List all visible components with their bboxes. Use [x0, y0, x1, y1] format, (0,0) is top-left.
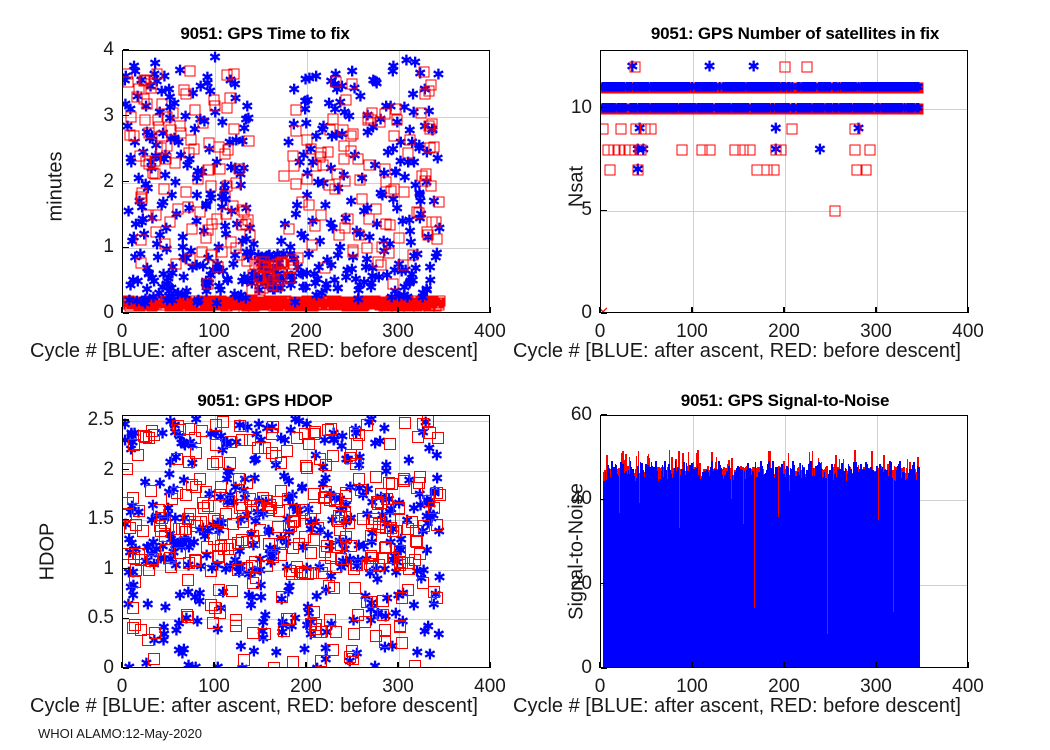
data-point-before-descent: [139, 75, 150, 86]
data-point-before-descent: [197, 497, 209, 509]
data-point-after-ascent: ✱: [255, 434, 268, 449]
data-point-after-ascent: ✱: [191, 171, 204, 186]
data-point-before-descent: [729, 82, 740, 93]
data-point-before-descent: [331, 77, 342, 88]
data-point-after-ascent: ✱: [346, 263, 359, 278]
x-tick-label: 400: [952, 676, 984, 698]
data-point-before-descent: [889, 82, 900, 93]
data-point-before-descent: [282, 493, 294, 505]
data-point-before-descent: [772, 82, 783, 93]
data-point-before-descent: [666, 82, 677, 93]
data-point-before-descent: [156, 512, 168, 524]
data-point-after-ascent: ✱: [386, 523, 399, 538]
data-point-before-descent: [622, 82, 633, 93]
data-point-after-ascent: ✱: [249, 267, 262, 282]
data-point-before-descent: [133, 548, 145, 560]
data-point-after-ascent: ✱: [418, 625, 431, 640]
data-point-after-ascent: ✱: [236, 661, 249, 668]
data-point-after-ascent: ✱: [317, 460, 330, 475]
data-point-after-ascent: ✱: [360, 260, 373, 275]
data-point-before-descent: [234, 300, 245, 311]
data-point-before-descent: [290, 178, 301, 189]
data-point-after-ascent: ✱: [361, 202, 374, 217]
data-point-after-ascent: ✱: [860, 81, 871, 94]
data-point-after-ascent: ✱: [291, 199, 304, 214]
data-point-after-ascent: ✱: [270, 261, 283, 276]
data-point-before-descent: [278, 625, 290, 637]
data-point-before-descent: [187, 296, 198, 307]
data-point-before-descent: [240, 218, 251, 229]
data-point-before-descent: [123, 298, 134, 309]
data-point-after-ascent: ✱: [216, 191, 229, 206]
data-point-after-ascent: ✱: [156, 539, 169, 554]
data-point-before-descent: [361, 298, 372, 309]
data-point-before-descent: [193, 299, 204, 310]
data-point-after-ascent: ✱: [391, 201, 404, 216]
data-point-after-ascent: ✱: [346, 65, 359, 80]
data-point-after-ascent: ✱: [124, 546, 137, 561]
data-point-before-descent: [782, 82, 793, 93]
data-point-after-ascent: ✱: [125, 429, 138, 444]
data-point-before-descent: [883, 82, 894, 93]
data-point-after-ascent: ✱: [275, 532, 288, 547]
data-point-after-ascent: ✱: [155, 198, 168, 213]
data-point-before-descent: [135, 191, 146, 202]
data-point-after-ascent: ✱: [352, 554, 365, 569]
data-point-before-descent: [403, 147, 414, 158]
data-point-after-ascent: ✱: [671, 81, 682, 94]
data-point-after-ascent: ✱: [216, 201, 229, 216]
data-point-before-descent: [385, 522, 397, 534]
data-point-before-descent: [673, 82, 684, 93]
data-point-after-ascent: ✱: [632, 142, 645, 157]
data-point-before-descent: [630, 62, 641, 73]
data-point-after-ascent: ✱: [754, 81, 765, 94]
data-point-before-descent: [198, 502, 210, 514]
data-point-before-descent: [608, 82, 619, 93]
data-point-before-descent: [226, 585, 238, 597]
data-point-after-ascent: ✱: [845, 81, 856, 94]
data-point-after-ascent: ✱: [799, 81, 810, 94]
data-point-before-descent: [910, 82, 921, 93]
data-point-after-ascent: ✱: [345, 511, 358, 526]
data-point-after-ascent: ✱: [387, 192, 400, 207]
data-point-before-descent: [169, 300, 180, 311]
x-tick-label: 400: [952, 321, 984, 343]
y-tick-label: 1: [60, 236, 114, 258]
data-point-before-descent: [762, 82, 773, 93]
data-point-before-descent: [365, 550, 377, 562]
data-point-after-ascent: ✱: [242, 251, 255, 266]
data-point-before-descent: [728, 82, 739, 93]
data-point-before-descent: [198, 118, 209, 129]
data-point-before-descent: [412, 207, 423, 218]
data-point-after-ascent: ✱: [417, 525, 430, 540]
data-point-before-descent: [911, 82, 922, 93]
data-point-after-ascent: ✱: [246, 277, 259, 292]
data-point-after-ascent: ✱: [158, 620, 171, 635]
data-point-after-ascent: ✱: [219, 219, 232, 234]
x-tick-mark: [691, 662, 692, 668]
data-point-after-ascent: ✱: [139, 297, 152, 312]
data-point-before-descent: [373, 521, 385, 533]
data-point-before-descent: [228, 68, 239, 79]
data-point-before-descent: [835, 82, 846, 93]
data-point-before-descent: [220, 149, 231, 160]
data-point-before-descent: [427, 119, 438, 130]
data-point-after-ascent: ✱: [268, 283, 281, 298]
data-point-after-ascent: ✱: [148, 275, 161, 290]
data-point-before-descent: [413, 477, 425, 489]
data-point-before-descent: [404, 305, 415, 313]
data-point-before-descent: [632, 165, 643, 176]
data-point-before-descent: [268, 274, 279, 285]
data-point-before-descent: [287, 656, 299, 668]
data-point-after-ascent: ✱: [353, 459, 366, 474]
data-point-before-descent: [657, 82, 668, 93]
data-point-before-descent: [151, 300, 162, 311]
data-point-before-descent: [141, 155, 152, 166]
data-point-before-descent: [247, 577, 259, 589]
data-point-before-descent: [243, 214, 254, 225]
data-point-before-descent: [351, 438, 363, 450]
data-point-after-ascent: ✱: [787, 81, 798, 94]
data-point-after-ascent: ✱: [414, 211, 427, 226]
plot-area-hdop: ✱✱✱✱✱✱✱✱✱✱✱✱✱✱✱✱✱✱✱✱✱✱✱✱✱✱✱✱✱✱✱✱✱✱✱✱✱✱✱✱…: [122, 415, 490, 668]
data-point-before-descent: [851, 165, 862, 176]
data-point-before-descent: [357, 513, 369, 525]
data-point-after-ascent: ✱: [330, 129, 343, 144]
data-point-after-ascent: ✱: [379, 610, 392, 625]
data-point-after-ascent: ✱: [333, 535, 346, 550]
data-point-after-ascent: ✱: [149, 57, 162, 72]
data-point-after-ascent: ✱: [126, 500, 139, 515]
data-point-before-descent: [281, 296, 292, 307]
data-point-after-ascent: ✱: [314, 234, 327, 249]
data-point-after-ascent: ✱: [426, 122, 439, 137]
data-point-after-ascent: ✱: [889, 81, 900, 94]
data-point-after-ascent: ✱: [797, 81, 808, 94]
data-point-after-ascent: ✱: [283, 475, 296, 490]
data-point-after-ascent: ✱: [340, 516, 353, 531]
data-point-after-ascent: ✱: [344, 553, 357, 568]
data-point-before-descent: [329, 495, 341, 507]
data-point-before-descent: [122, 295, 131, 306]
data-point-before-descent: [309, 502, 321, 514]
data-point-before-descent: [314, 453, 326, 465]
data-point-before-descent: [873, 82, 884, 93]
data-point-after-ascent: ✱: [146, 211, 159, 226]
data-point-after-ascent: ✱: [327, 434, 340, 449]
data-point-after-ascent: ✱: [639, 81, 650, 94]
data-point-after-ascent: ✱: [403, 454, 416, 469]
data-point-after-ascent: ✱: [694, 81, 705, 94]
data-point-before-descent: [330, 541, 342, 553]
data-point-after-ascent: ✱: [417, 287, 430, 302]
data-point-before-descent: [272, 281, 283, 292]
data-point-before-descent: [290, 298, 301, 309]
data-point-after-ascent: ✱: [317, 478, 330, 493]
data-point-before-descent: [233, 473, 245, 485]
data-point-before-descent: [403, 296, 414, 307]
data-point-before-descent: [853, 82, 864, 93]
data-point-before-descent: [122, 296, 133, 307]
data-point-after-ascent: ✱: [259, 608, 272, 623]
data-point-after-ascent: ✱: [325, 259, 338, 274]
data-point-before-descent: [887, 82, 898, 93]
data-point-before-descent: [351, 299, 362, 310]
data-point-before-descent: [653, 82, 664, 93]
data-point-before-descent: [841, 82, 852, 93]
data-point-after-ascent: ✱: [359, 590, 372, 605]
data-point-before-descent: [846, 82, 857, 93]
data-point-before-descent: [355, 484, 367, 496]
data-point-before-descent: [287, 542, 299, 554]
x-tick-label: 100: [198, 676, 230, 698]
data-point-before-descent: [771, 82, 782, 93]
data-point-after-ascent: ✱: [224, 560, 237, 575]
data-point-after-ascent: ✱: [677, 81, 688, 94]
data-point-before-descent: [187, 298, 198, 309]
data-point-after-ascent: ✱: [624, 81, 635, 94]
y-tick-label: 40: [538, 488, 592, 510]
data-point-after-ascent: ✱: [617, 81, 628, 94]
data-point-after-ascent: ✱: [824, 81, 835, 94]
gridline-horizontal: [601, 109, 967, 110]
data-point-before-descent: [197, 298, 208, 309]
data-point-after-ascent: ✱: [299, 280, 312, 295]
data-point-after-ascent: ✱: [906, 81, 917, 94]
data-point-after-ascent: ✱: [695, 81, 706, 94]
data-point-before-descent: [842, 82, 853, 93]
data-point-before-descent: [149, 300, 160, 311]
data-point-after-ascent: ✱: [141, 598, 154, 613]
data-point-before-descent: [171, 487, 183, 499]
data-point-before-descent: [662, 82, 673, 93]
data-point-before-descent: [856, 82, 867, 93]
data-point-before-descent: [349, 427, 361, 439]
data-point-before-descent: [384, 297, 395, 308]
data-point-before-descent: [190, 555, 202, 567]
data-point-after-ascent: ✱: [642, 81, 653, 94]
data-point-before-descent: [898, 82, 909, 93]
data-point-before-descent: [336, 298, 347, 309]
data-point-before-descent: [291, 299, 302, 310]
data-point-before-descent: [230, 300, 241, 311]
data-point-after-ascent: ✱: [131, 295, 144, 310]
data-point-before-descent: [224, 92, 235, 103]
data-point-after-ascent: ✱: [427, 508, 440, 523]
data-point-before-descent: [678, 82, 689, 93]
data-point-before-descent: [148, 429, 160, 441]
data-point-after-ascent: ✱: [320, 278, 333, 293]
data-point-after-ascent: ✱: [750, 81, 761, 94]
data-point-before-descent: [142, 634, 154, 646]
data-point-after-ascent: ✱: [903, 81, 914, 94]
data-point-after-ascent: ✱: [652, 81, 663, 94]
data-point-before-descent: [299, 531, 311, 543]
data-point-after-ascent: ✱: [236, 274, 249, 289]
data-point-after-ascent: ✱: [234, 178, 247, 193]
data-point-after-ascent: ✱: [782, 81, 793, 94]
data-point-after-ascent: ✱: [386, 640, 399, 655]
data-point-before-descent: [171, 453, 183, 465]
data-point-before-descent: [411, 296, 422, 307]
data-point-after-ascent: ✱: [610, 81, 621, 94]
data-point-after-ascent: ✱: [892, 81, 903, 94]
data-point-after-ascent: ✱: [409, 262, 422, 277]
data-point-before-descent: [190, 447, 202, 459]
data-point-before-descent: [129, 576, 141, 588]
data-point-after-ascent: ✱: [314, 524, 327, 539]
data-point-before-descent: [263, 267, 274, 278]
data-point-before-descent: [434, 297, 445, 308]
data-point-before-descent: [381, 299, 392, 310]
data-point-before-descent: [766, 82, 777, 93]
data-point-after-ascent: ✱: [422, 231, 435, 246]
data-point-before-descent: [256, 299, 267, 310]
data-point-before-descent: [365, 298, 376, 309]
data-point-after-ascent: ✱: [182, 658, 195, 668]
data-point-after-ascent: ✱: [128, 60, 141, 75]
data-point-before-descent: [129, 131, 140, 142]
data-point-before-descent: [826, 82, 837, 93]
data-point-after-ascent: ✱: [367, 73, 380, 88]
data-point-before-descent: [893, 82, 904, 93]
data-point-before-descent: [158, 298, 169, 309]
data-point-before-descent: [314, 296, 325, 307]
data-point-before-descent: [777, 82, 788, 93]
x-tick-mark: [875, 662, 876, 668]
data-point-before-descent: [344, 452, 356, 464]
data-point-before-descent: [357, 299, 368, 310]
data-point-before-descent: [208, 296, 219, 307]
data-point-before-descent: [619, 82, 630, 93]
data-point-before-descent: [649, 82, 660, 93]
data-point-before-descent: [207, 299, 218, 310]
data-point-before-descent: [140, 298, 151, 309]
data-point-before-descent: [695, 82, 706, 93]
data-point-after-ascent: ✱: [195, 559, 208, 574]
data-point-after-ascent: ✱: [240, 112, 253, 127]
data-point-after-ascent: ✱: [390, 566, 403, 581]
data-point-before-descent: [407, 249, 418, 260]
data-point-after-ascent: ✱: [753, 81, 764, 94]
data-point-before-descent: [231, 298, 242, 309]
x-tick-label: 400: [474, 321, 506, 343]
data-point-after-ascent: ✱: [429, 587, 442, 602]
data-point-after-ascent: ✱: [241, 99, 254, 114]
data-point-after-ascent: ✱: [413, 187, 426, 202]
data-point-before-descent: [383, 477, 395, 489]
data-point-after-ascent: ✱: [417, 564, 430, 579]
data-point-before-descent: [424, 305, 435, 313]
data-point-after-ascent: ✱: [292, 503, 305, 518]
data-point-after-ascent: ✱: [843, 81, 854, 94]
data-point-before-descent: [352, 300, 363, 311]
data-point-after-ascent: ✱: [350, 224, 363, 239]
data-point-after-ascent: ✱: [335, 439, 348, 454]
data-point-after-ascent: ✱: [395, 136, 408, 151]
data-point-after-ascent: ✱: [203, 487, 216, 502]
data-point-before-descent: [310, 626, 322, 638]
data-point-before-descent: [621, 82, 632, 93]
data-point-before-descent: [122, 299, 132, 310]
data-point-before-descent: [785, 82, 796, 93]
data-point-before-descent: [256, 257, 267, 268]
data-point-before-descent: [327, 296, 338, 307]
gridline-vertical: [399, 51, 400, 312]
data-point-before-descent: [340, 176, 351, 187]
data-point-after-ascent: ✱: [259, 262, 272, 277]
data-point-before-descent: [912, 82, 923, 93]
data-point-before-descent: [417, 299, 428, 310]
data-point-after-ascent: ✱: [770, 142, 783, 157]
data-point-after-ascent: ✱: [287, 118, 300, 133]
data-point-after-ascent: ✱: [635, 81, 646, 94]
data-point-after-ascent: ✱: [207, 264, 220, 279]
data-point-before-descent: [904, 82, 915, 93]
panel-snr: 9051: GPS Signal-to-Noise Signal-to-Nois…: [525, 375, 1050, 750]
data-point-before-descent: [176, 296, 187, 307]
data-point-after-ascent: ✱: [673, 81, 684, 94]
data-point-after-ascent: ✱: [352, 538, 365, 553]
data-point-before-descent: [366, 552, 378, 564]
data-point-after-ascent: ✱: [155, 84, 168, 99]
data-point-after-ascent: ✱: [136, 201, 149, 216]
data-point-before-descent: [640, 124, 651, 135]
data-point-before-descent: [318, 299, 329, 310]
data-point-after-ascent: ✱: [142, 182, 155, 197]
data-point-after-ascent: ✱: [221, 495, 234, 510]
data-point-before-descent: [272, 521, 284, 533]
data-point-before-descent: [845, 82, 856, 93]
data-point-before-descent: [124, 522, 136, 534]
x-tick-mark: [305, 662, 306, 668]
data-point-after-ascent: ✱: [178, 511, 191, 526]
data-point-after-ascent: ✱: [299, 95, 312, 110]
data-point-after-ascent: ✱: [154, 476, 167, 491]
data-point-before-descent: [337, 296, 348, 307]
data-point-after-ascent: ✱: [181, 159, 194, 174]
data-point-after-ascent: ✱: [145, 162, 158, 177]
data-point-after-ascent: ✱: [286, 270, 299, 285]
data-point-before-descent: [255, 284, 266, 295]
data-point-before-descent: [182, 574, 194, 586]
data-point-after-ascent: ✱: [407, 106, 420, 121]
data-point-before-descent: [275, 457, 287, 469]
y-tick-mark: [123, 469, 129, 470]
data-point-before-descent: [803, 82, 814, 93]
data-point-before-descent: [274, 538, 286, 550]
data-point-before-descent: [406, 299, 417, 310]
data-point-before-descent: [253, 272, 264, 283]
data-point-after-ascent: ✱: [353, 278, 366, 293]
data-point-before-descent: [424, 297, 435, 308]
data-point-before-descent: [328, 113, 339, 124]
data-point-before-descent: [433, 299, 444, 310]
data-point-after-ascent: ✱: [215, 517, 228, 532]
data-point-after-ascent: ✱: [837, 81, 848, 94]
data-point-before-descent: [331, 299, 342, 310]
data-point-before-descent: [710, 82, 721, 93]
data-point-before-descent: [198, 296, 209, 307]
data-point-before-descent: [600, 82, 610, 93]
data-point-before-descent: [371, 298, 382, 309]
data-point-before-descent: [196, 425, 208, 437]
data-point-before-descent: [620, 82, 631, 93]
data-point-after-ascent: ✱: [354, 227, 367, 242]
